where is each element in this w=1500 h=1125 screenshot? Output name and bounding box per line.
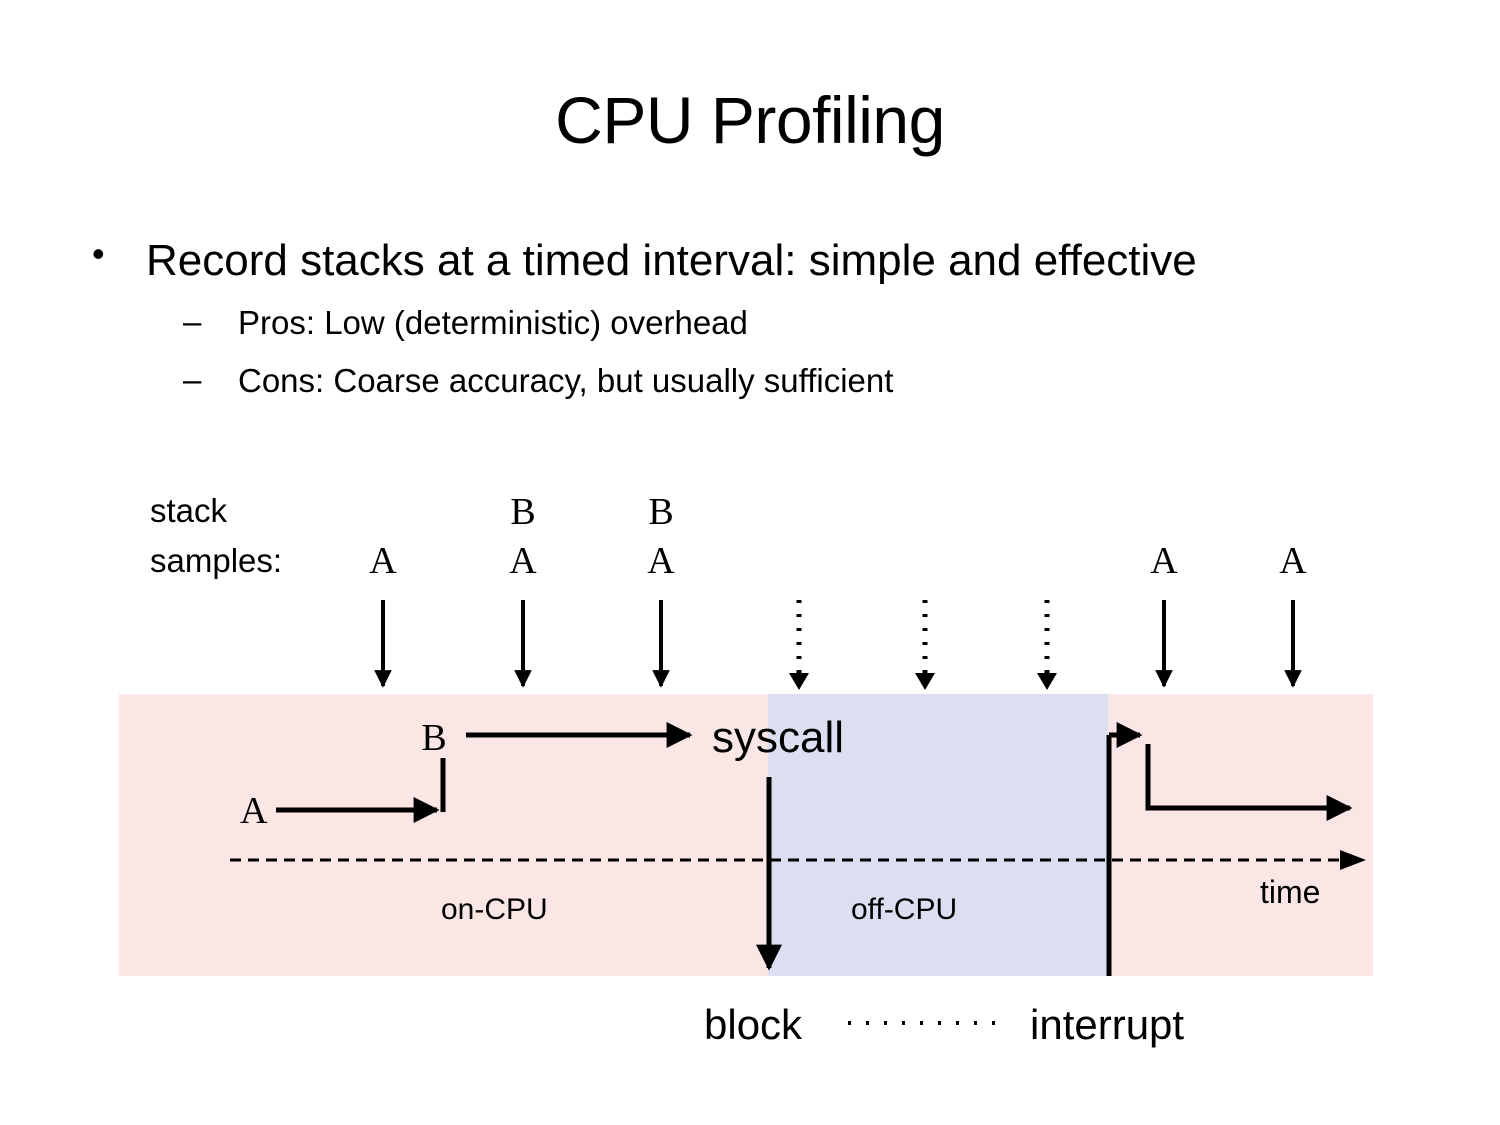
stack-samples-label-line2: samples: bbox=[150, 542, 282, 579]
slide-canvas: CPU Profiling • Record stacks at a timed… bbox=[0, 0, 1500, 1125]
syscall-label: syscall bbox=[712, 713, 844, 762]
stack-frame-a-label: A bbox=[240, 790, 268, 832]
sample-arrowhead-s5 bbox=[915, 673, 935, 690]
sample-arrowhead-s4 bbox=[789, 673, 809, 690]
band-on-cpu-right bbox=[1108, 694, 1373, 976]
time-axis-label: time bbox=[1260, 874, 1320, 910]
event-label-block: block bbox=[704, 1001, 803, 1048]
zone-label-off-cpu: off-CPU bbox=[851, 893, 957, 926]
sample-arrowhead-s6 bbox=[1037, 673, 1057, 690]
sample-frame-s2-b: B bbox=[510, 491, 535, 533]
sample-frame-s8-a: A bbox=[1279, 540, 1307, 582]
zone-label-on-cpu: on-CPU bbox=[441, 893, 548, 926]
sample-frame-s2-a: A bbox=[509, 540, 537, 582]
sample-frame-s3-a: A bbox=[647, 540, 675, 582]
sample-frame-s1-a: A bbox=[369, 540, 397, 582]
sample-frame-s7-a: A bbox=[1150, 540, 1178, 582]
event-label-interrupt: interrupt bbox=[1030, 1001, 1184, 1048]
stack-frame-b-label: B bbox=[421, 717, 446, 759]
cpu-timeline-diagram: stack samples: A B A B A A A bbox=[0, 0, 1500, 1125]
sample-frame-s3-b: B bbox=[648, 491, 673, 533]
stack-samples-label-line1: stack bbox=[150, 492, 228, 529]
